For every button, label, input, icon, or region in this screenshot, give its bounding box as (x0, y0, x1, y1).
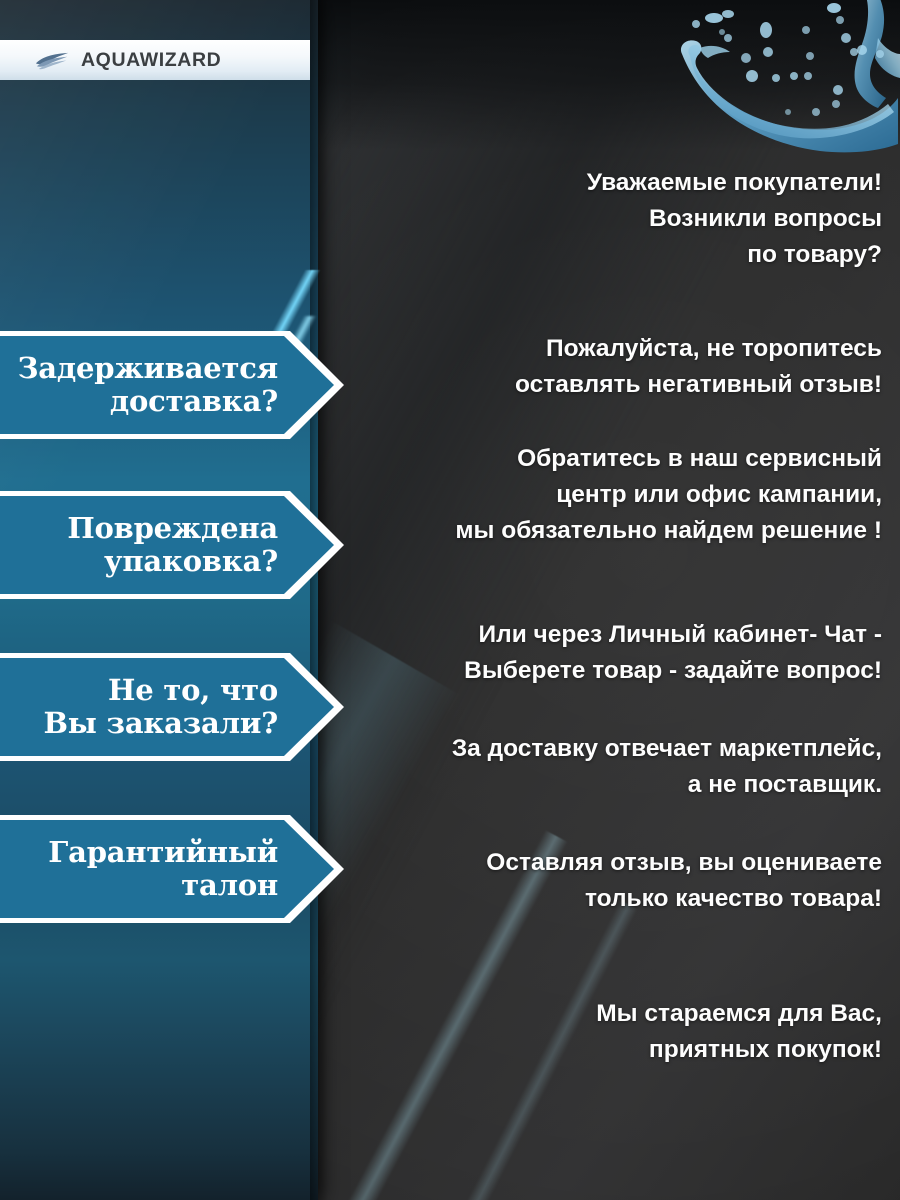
paragraph-text: За доставку отвечает маркетплейс, а не п… (330, 731, 890, 803)
tag-body: Гарантийный талон (0, 820, 334, 918)
tag-body: Задерживается доставка? (0, 336, 334, 434)
paragraph-text: Мы стараемся для Вас, приятных покупок! (330, 996, 890, 1068)
panel-edge-shadow (310, 0, 328, 1200)
tag-body: Не то, что Вы заказали? (0, 658, 334, 756)
review-quality-paragraph: Оставляя отзыв, вы оцениваете только кач… (330, 845, 890, 917)
no-negative-review-paragraph: Пожалуйста, не торопитесь оставлять нега… (330, 331, 890, 403)
tag-label: Повреждена упаковка? (67, 512, 278, 578)
personal-account-chat-paragraph: Или через Личный кабинет- Чат - Выберете… (330, 617, 890, 689)
left-blue-panel (0, 0, 318, 1200)
tag-body: Повреждена упаковка? (0, 496, 334, 594)
paragraph-text: Уважаемые покупатели! Возникли вопросы п… (330, 165, 890, 273)
tag-label: Задерживается доставка? (18, 352, 278, 418)
paragraph-text: Пожалуйста, не торопитесь оставлять нега… (330, 331, 890, 403)
water-wave-icon (34, 51, 72, 70)
marketplace-responsibility-paragraph: За доставку отвечает маркетплейс, а не п… (330, 731, 890, 803)
contact-service-paragraph: Обратитесь в наш сервисный центр или офи… (330, 441, 890, 549)
paragraph-text: Или через Личный кабинет- Чат - Выберете… (330, 617, 890, 689)
paragraph-text: Обратитесь в наш сервисный центр или офи… (330, 441, 890, 549)
brand-logo-text: AQUAWIZARD (81, 49, 221, 72)
panel-sheen (0, 0, 318, 1200)
closing-paragraph: Мы стараемся для Вас, приятных покупок! (330, 996, 890, 1068)
water-splash-icon (670, 0, 900, 154)
greeting-paragraph: Уважаемые покупатели! Возникли вопросы п… (330, 165, 890, 273)
brand-logo-bar[interactable]: AQUAWIZARD (0, 40, 310, 80)
poster-canvas: AQUAWIZARD Задерживается доставка? Повре… (0, 0, 900, 1200)
tag-label: Гарантийный талон (48, 836, 278, 902)
paragraph-text: Оставляя отзыв, вы оцениваете только кач… (330, 845, 890, 917)
tag-label: Не то, что Вы заказали? (43, 674, 278, 740)
